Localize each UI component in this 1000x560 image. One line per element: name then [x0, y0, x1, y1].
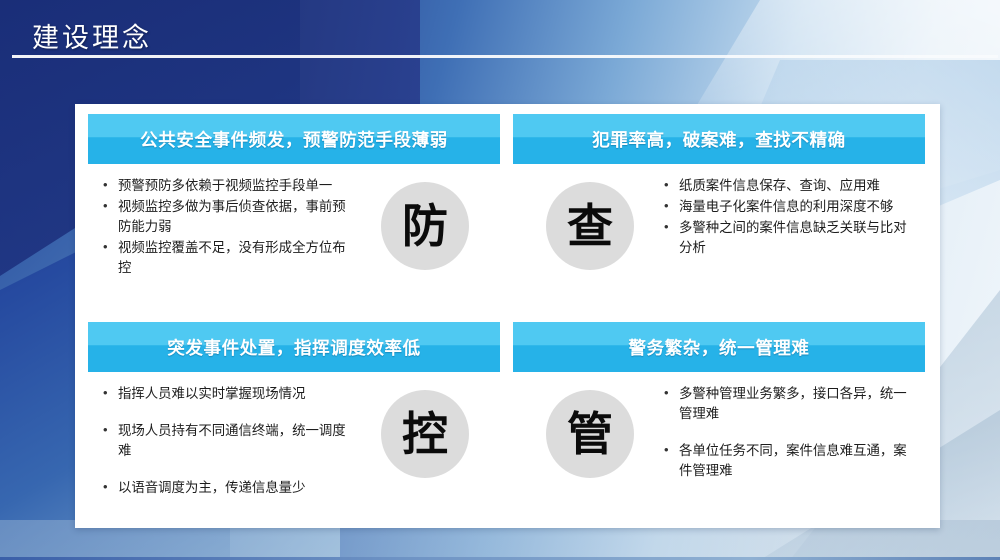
- quadrant-header-label: 公共安全事件频发，预警防范手段薄弱: [140, 127, 448, 152]
- bullet-list-investigate: 纸质案件信息保存、查询、应用难 海量电子化案件信息的利用深度不够 多警种之间的案…: [662, 176, 920, 259]
- quadrant-body-prevent: 预警预防多依赖于视频监控手段单一 视频监控多做为事后侦查依据，事前预防能力弱 视…: [85, 170, 505, 322]
- quadrant-header-prevent: 公共安全事件频发，预警防范手段薄弱: [88, 114, 500, 164]
- list-item: 以语音调度为主，传递信息量少: [101, 478, 353, 498]
- title-divider: [12, 55, 998, 58]
- quadrant-control: 突发事件处置，指挥调度效率低 指挥人员难以实时掌握现场情况 现场人员持有不同通信…: [85, 322, 505, 530]
- glyph-character: 防: [402, 203, 448, 249]
- quadrant-body-manage: 管 多警种管理业务繁多，接口各异，统一管理难 各单位任务不同，案件信息难互通，案…: [510, 378, 930, 530]
- title-bar: 建设理念: [0, 0, 1000, 70]
- quadrant-grid: 公共安全事件频发，预警防范手段薄弱 预警预防多依赖于视频监控手段单一 视频监控多…: [75, 104, 940, 528]
- list-item: 指挥人员难以实时掌握现场情况: [101, 384, 353, 404]
- quadrant-header-label: 犯罪率高，破案难，查找不精确: [592, 127, 845, 152]
- list-item: 纸质案件信息保存、查询、应用难: [662, 176, 920, 196]
- glyph-character: 管: [567, 411, 613, 457]
- bullet-list-control: 指挥人员难以实时掌握现场情况 现场人员持有不同通信终端，统一调度难 以语音调度为…: [101, 384, 353, 515]
- content-card: 公共安全事件频发，预警防范手段薄弱 预警预防多依赖于视频监控手段单一 视频监控多…: [75, 104, 940, 528]
- quadrant-header-control: 突发事件处置，指挥调度效率低: [88, 322, 500, 372]
- quadrant-header-manage: 警务繁杂，统一管理难: [513, 322, 925, 372]
- glyph-character: 查: [567, 203, 613, 249]
- quadrant-header-label: 突发事件处置，指挥调度效率低: [167, 335, 420, 360]
- list-item: 预警预防多依赖于视频监控手段单一: [101, 176, 353, 196]
- bullet-list-prevent: 预警预防多依赖于视频监控手段单一 视频监控多做为事后侦查依据，事前预防能力弱 视…: [101, 176, 353, 279]
- quadrant-header-investigate: 犯罪率高，破案难，查找不精确: [513, 114, 925, 164]
- list-item: 各单位任务不同，案件信息难互通，案件管理难: [662, 441, 920, 481]
- glyph-circle-prevent: 防: [381, 182, 469, 270]
- glyph-character: 控: [402, 411, 448, 457]
- glyph-circle-manage: 管: [546, 390, 634, 478]
- glyph-circle-investigate: 查: [546, 182, 634, 270]
- quadrant-investigate: 犯罪率高，破案难，查找不精确 查 纸质案件信息保存、查询、应用难 海量电子化案件…: [510, 114, 930, 322]
- quadrant-body-investigate: 查 纸质案件信息保存、查询、应用难 海量电子化案件信息的利用深度不够 多警种之间…: [510, 170, 930, 322]
- glyph-circle-control: 控: [381, 390, 469, 478]
- bullet-list-manage: 多警种管理业务繁多，接口各异，统一管理难 各单位任务不同，案件信息难互通，案件管…: [662, 384, 920, 498]
- quadrant-manage: 警务繁杂，统一管理难 管 多警种管理业务繁多，接口各异，统一管理难 各单位任务不…: [510, 322, 930, 530]
- list-item: 多警种之间的案件信息缺乏关联与比对分析: [662, 218, 920, 258]
- quadrant-prevent: 公共安全事件频发，预警防范手段薄弱 预警预防多依赖于视频监控手段单一 视频监控多…: [85, 114, 505, 322]
- list-item: 视频监控多做为事后侦查依据，事前预防能力弱: [101, 197, 353, 237]
- list-item: 现场人员持有不同通信终端，统一调度难: [101, 421, 353, 461]
- quadrant-body-control: 指挥人员难以实时掌握现场情况 现场人员持有不同通信终端，统一调度难 以语音调度为…: [85, 378, 505, 530]
- quadrant-header-label: 警务繁杂，统一管理难: [629, 335, 810, 360]
- list-item: 海量电子化案件信息的利用深度不够: [662, 197, 920, 217]
- page-title: 建设理念: [32, 16, 152, 55]
- list-item: 多警种管理业务繁多，接口各异，统一管理难: [662, 384, 920, 424]
- list-item: 视频监控覆盖不足，没有形成全方位布控: [101, 238, 353, 278]
- slide-root: 建设理念 公共安全事件频发，预警防范手段薄弱 预警预防多依赖于视频监控手段单一 …: [0, 0, 1000, 560]
